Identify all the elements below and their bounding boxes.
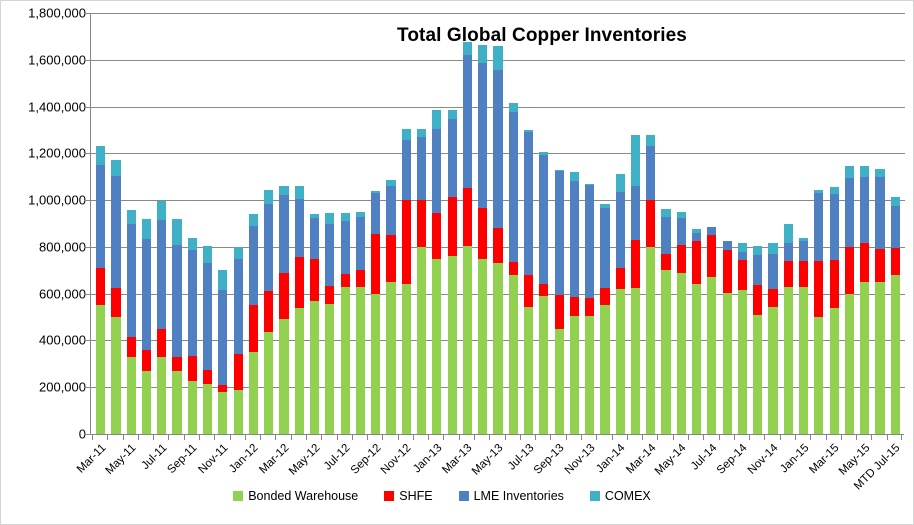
bar-segment: [677, 218, 686, 245]
bar-stack: [386, 180, 395, 434]
legend-item[interactable]: Bonded Warehouse: [233, 489, 358, 503]
bar-segment: [218, 392, 227, 434]
bar-stack: [555, 170, 564, 434]
x-axis-label-cell: May-12: [306, 440, 321, 492]
bar-segment: [814, 317, 823, 434]
bar-segment: [478, 259, 487, 434]
bar-stack: [264, 190, 273, 434]
y-axis-tick-label: 200,000: [4, 380, 86, 395]
bar-stack: [432, 110, 441, 434]
bar-column[interactable]: [872, 13, 887, 434]
bar-column[interactable]: [796, 13, 811, 434]
bar-segment: [585, 298, 594, 316]
bar-column[interactable]: [750, 13, 765, 434]
bar-stack: [570, 172, 579, 434]
bar-segment: [509, 262, 518, 275]
bar-segment: [661, 270, 670, 434]
bar-segment: [188, 238, 197, 251]
bar-segment: [814, 193, 823, 261]
bar-segment: [249, 214, 258, 226]
bar-segment: [463, 246, 472, 434]
bar-segment: [600, 208, 609, 288]
bar-segment: [661, 254, 670, 270]
bar-segment: [386, 186, 395, 235]
bar-stack: [234, 247, 243, 434]
bar-column[interactable]: [215, 13, 230, 434]
bar-segment: [234, 390, 243, 434]
bar-segment: [111, 317, 120, 434]
bar-column[interactable]: [231, 13, 246, 434]
bar-segment: [555, 295, 564, 329]
bar-segment: [448, 119, 457, 196]
bar-segment: [188, 356, 197, 382]
bar-stack: [127, 210, 136, 435]
bar-column[interactable]: [322, 13, 337, 434]
bar-segment: [493, 228, 502, 263]
bar-segment: [753, 246, 762, 255]
bar-segment: [264, 190, 273, 204]
bar-segment: [493, 46, 502, 71]
bar-column[interactable]: [490, 13, 505, 434]
bar-segment: [172, 357, 181, 371]
bar-stack: [646, 135, 655, 434]
bar-column[interactable]: [521, 13, 536, 434]
bar-stack: [96, 146, 105, 434]
bar-column[interactable]: [338, 13, 353, 434]
bar-column[interactable]: [597, 13, 612, 434]
bar-stack: [692, 229, 701, 434]
bar-stack: [249, 214, 258, 434]
bar-segment: [875, 177, 884, 250]
x-axis-label-cell: May-11: [123, 440, 138, 492]
bar-segment: [860, 243, 869, 282]
bar-segment: [295, 308, 304, 434]
bar-segment: [279, 195, 288, 272]
bar-segment: [585, 316, 594, 434]
bar-segment: [96, 165, 105, 268]
bar-segment: [753, 315, 762, 434]
bar-stack: [402, 129, 411, 434]
bar-column[interactable]: [857, 13, 872, 434]
bar-segment: [845, 247, 854, 294]
bar-column[interactable]: [139, 13, 154, 434]
bar-column[interactable]: [185, 13, 200, 434]
bar-segment: [325, 224, 334, 286]
x-axis-label-cell: MTD Jul-15: [887, 440, 902, 492]
bar-segment: [539, 284, 548, 296]
bar-segment: [463, 55, 472, 188]
bar-stack: [631, 135, 640, 434]
bar-stack: [707, 227, 716, 434]
bar-segment: [127, 210, 136, 224]
bar-segment: [600, 305, 609, 434]
bar-segment: [188, 381, 197, 434]
bar-segment: [753, 255, 762, 285]
bar-column[interactable]: [811, 13, 826, 434]
bar-stack: [814, 190, 823, 434]
bar-column[interactable]: [827, 13, 842, 434]
bar-column[interactable]: [628, 13, 643, 434]
bar-segment: [493, 70, 502, 228]
bar-segment: [341, 221, 350, 274]
bar-segment: [188, 250, 197, 355]
y-axis-tick-label: 600,000: [4, 286, 86, 301]
bar-segment: [234, 247, 243, 259]
bar-segment: [234, 354, 243, 389]
bar-column[interactable]: [674, 13, 689, 434]
bar-column[interactable]: [93, 13, 108, 434]
legend-swatch-icon: [590, 491, 600, 501]
bar-segment: [142, 239, 151, 350]
y-axis: 1,800,0001,600,0001,400,0001,200,0001,00…: [0, 13, 86, 434]
bar-column[interactable]: [536, 13, 551, 434]
bar-column[interactable]: [567, 13, 582, 434]
bar-segment: [768, 307, 777, 434]
bar-segment: [279, 273, 288, 320]
bar-segment: [264, 332, 273, 434]
bar-column[interactable]: [765, 13, 780, 434]
bar-segment: [860, 282, 869, 434]
bar-column[interactable]: [154, 13, 169, 434]
bar-segment: [555, 171, 564, 295]
bar-column[interactable]: [108, 13, 123, 434]
sheet-border-top: [0, 0, 914, 1]
bar-stack: [799, 238, 808, 434]
bar-segment: [127, 224, 136, 337]
bar-segment: [524, 132, 533, 275]
bar-segment: [539, 296, 548, 434]
bar-segment: [325, 213, 334, 224]
bar-segment: [264, 291, 273, 332]
bar-stack: [585, 184, 594, 434]
bar-segment: [448, 110, 457, 119]
bar-segment: [295, 199, 304, 257]
legend-item[interactable]: SHFE: [384, 489, 432, 503]
bar-column[interactable]: [704, 13, 719, 434]
bar-segment: [891, 206, 900, 248]
bar-column[interactable]: [399, 13, 414, 434]
y-axis-tick-label: 1,000,000: [4, 193, 86, 208]
bar-segment: [677, 245, 686, 273]
bar-segment: [509, 112, 518, 262]
bar-segment: [448, 256, 457, 434]
y-axis-tick-label: 0: [4, 427, 86, 442]
bar-column[interactable]: [124, 13, 139, 434]
bar-column[interactable]: [353, 13, 368, 434]
bar-segment: [417, 247, 426, 434]
y-axis-tick-label: 1,200,000: [4, 146, 86, 161]
bar-segment: [249, 226, 258, 306]
bar-stack: [111, 160, 120, 434]
bar-segment: [646, 135, 655, 147]
bar-segment: [723, 293, 732, 435]
bar-stack: [845, 166, 854, 434]
bar-segment: [768, 254, 777, 289]
bar-segment: [142, 350, 151, 371]
bar-segment: [524, 275, 533, 307]
bar-segment: [723, 250, 732, 292]
bar-segment: [127, 337, 136, 357]
legend-swatch-icon: [459, 491, 469, 501]
bar-segment: [310, 259, 319, 301]
bar-segment: [845, 166, 854, 178]
bar-segment: [341, 213, 350, 221]
bar-segment: [402, 140, 411, 200]
bar-segment: [799, 241, 808, 261]
bar-segment: [386, 235, 395, 282]
bar-segment: [402, 129, 411, 141]
bar-stack: [875, 169, 884, 434]
bar-segment: [830, 194, 839, 259]
bar-column[interactable]: [613, 13, 628, 434]
x-axis-tick-label: Mar-11: [74, 442, 108, 476]
bar-column[interactable]: [307, 13, 322, 434]
bar-stack: [203, 246, 212, 434]
bar-segment: [891, 197, 900, 206]
bar-segment: [707, 227, 716, 235]
bar-segment: [784, 243, 793, 261]
bar-stack: [172, 219, 181, 434]
bar-column[interactable]: [735, 13, 750, 434]
bar-stack: [891, 197, 900, 434]
bar-segment: [325, 286, 334, 305]
bar-segment: [738, 290, 747, 434]
bar-segment: [371, 234, 380, 294]
bar-segment: [264, 204, 273, 292]
bar-column[interactable]: [658, 13, 673, 434]
bar-segment: [157, 329, 166, 357]
bar-segment: [478, 208, 487, 258]
bar-column[interactable]: [276, 13, 291, 434]
bar-segment: [356, 217, 365, 271]
bar-segment: [616, 192, 625, 268]
bar-segment: [891, 248, 900, 275]
bar-segment: [310, 301, 319, 434]
bar-segment: [218, 290, 227, 385]
bar-segment: [509, 275, 518, 434]
bar-column[interactable]: [888, 13, 903, 434]
bar-segment: [157, 357, 166, 434]
bar-column[interactable]: [444, 13, 459, 434]
bar-stack: [677, 212, 686, 434]
bar-stack: [279, 186, 288, 434]
bar-segment: [830, 308, 839, 434]
bar-segment: [692, 241, 701, 284]
bar-segment: [753, 285, 762, 314]
bar-segment: [356, 287, 365, 434]
bar-segment: [142, 371, 151, 434]
bar-segment: [524, 307, 533, 434]
legend-label: SHFE: [399, 489, 432, 503]
bar-column[interactable]: [551, 13, 566, 434]
bar-stack: [478, 45, 487, 434]
bar-column[interactable]: [842, 13, 857, 434]
bar-segment: [203, 263, 212, 369]
bar-stack: [417, 129, 426, 434]
bar-segment: [830, 187, 839, 194]
y-axis-tick-label: 1,400,000: [4, 99, 86, 114]
bar-column[interactable]: [292, 13, 307, 434]
x-axis-labels: Mar-11May-11Jul-11Sep-11Nov-11Jan-12Mar-…: [90, 440, 904, 492]
bar-stack: [142, 219, 151, 434]
bar-segment: [295, 186, 304, 199]
bar-stack: [860, 166, 869, 434]
legend-label: Bonded Warehouse: [248, 489, 358, 503]
bar-segment: [845, 294, 854, 434]
bar-segment: [463, 188, 472, 245]
legend-label: LME Inventories: [474, 489, 564, 503]
bar-segment: [478, 45, 487, 64]
bar-segment: [157, 201, 166, 220]
bar-segment: [707, 277, 716, 434]
legend-item[interactable]: LME Inventories: [459, 489, 564, 503]
bar-segment: [875, 249, 884, 282]
bar-segment: [371, 193, 380, 234]
bar-stack: [509, 103, 518, 434]
bar-stack: [753, 246, 762, 434]
bar-column[interactable]: [781, 13, 796, 434]
bar-segment: [723, 241, 732, 250]
bar-stack: [341, 213, 350, 434]
bar-segment: [203, 370, 212, 384]
bar-stack: [661, 209, 670, 434]
bar-segment: [738, 243, 747, 251]
bar-segment: [707, 235, 716, 277]
bar-stack: [295, 186, 304, 434]
bar-segment: [646, 146, 655, 200]
bar-segment: [631, 288, 640, 434]
legend-swatch-icon: [384, 491, 394, 501]
bar-stack: [463, 42, 472, 434]
bar-segment: [661, 217, 670, 254]
bar-segment: [784, 224, 793, 244]
bar-segment: [768, 289, 777, 307]
bar-segment: [631, 135, 640, 186]
bar-column[interactable]: [506, 13, 521, 434]
bar-column[interactable]: [368, 13, 383, 434]
bar-segment: [860, 166, 869, 177]
bar-segment: [570, 172, 579, 181]
bar-segment: [509, 103, 518, 112]
bar-column[interactable]: [582, 13, 597, 434]
bar-stack: [768, 243, 777, 434]
bar-segment: [661, 209, 670, 216]
bar-column[interactable]: [475, 13, 490, 434]
bar-segment: [448, 197, 457, 257]
y-axis-tick-label: 800,000: [4, 239, 86, 254]
bar-segment: [295, 257, 304, 307]
bar-segment: [325, 304, 334, 434]
bar-segment: [111, 176, 120, 288]
bar-segment: [371, 294, 380, 434]
x-axis-label-cell: May-14: [673, 440, 688, 492]
bar-segment: [142, 219, 151, 239]
bar-segment: [432, 259, 441, 434]
chart-legend: Bonded WarehouseSHFELME InventoriesCOMEX: [0, 489, 914, 503]
bar-segment: [172, 219, 181, 245]
bar-segment: [279, 186, 288, 195]
bar-segment: [646, 200, 655, 247]
bar-segment: [814, 261, 823, 317]
bar-column[interactable]: [429, 13, 444, 434]
bar-segment: [830, 260, 839, 308]
bar-segment: [96, 268, 105, 305]
bar-segment: [784, 261, 793, 287]
bar-segment: [463, 42, 472, 55]
bar-segment: [631, 240, 640, 288]
bar-segment: [249, 305, 258, 352]
bar-segment: [677, 273, 686, 434]
bar-segment: [646, 247, 655, 434]
bar-segment: [616, 174, 625, 192]
bar-stack: [356, 212, 365, 434]
bar-segment: [279, 319, 288, 434]
bar-segment: [432, 110, 441, 129]
bar-column[interactable]: [261, 13, 276, 434]
bar-segment: [203, 384, 212, 434]
bar-segment: [493, 263, 502, 434]
bar-segment: [402, 284, 411, 434]
bar-column[interactable]: [200, 13, 215, 434]
bar-stack: [325, 213, 334, 434]
bar-segment: [600, 288, 609, 306]
bar-stack: [218, 270, 227, 434]
bar-column[interactable]: [383, 13, 398, 434]
bar-segment: [96, 305, 105, 434]
legend-item[interactable]: COMEX: [590, 489, 651, 503]
bar-column[interactable]: [246, 13, 261, 434]
bar-segment: [172, 371, 181, 434]
bar-column[interactable]: [414, 13, 429, 434]
bar-stack: [310, 214, 319, 434]
bar-segment: [111, 288, 120, 317]
bar-segment: [341, 274, 350, 287]
bar-segment: [875, 282, 884, 434]
bar-segment: [784, 287, 793, 434]
bar-segment: [692, 284, 701, 434]
bar-segment: [585, 185, 594, 298]
bar-segment: [172, 245, 181, 357]
bar-stack: [539, 152, 548, 434]
bar-segment: [310, 218, 319, 259]
bar-stack: [493, 46, 502, 434]
bar-segment: [570, 297, 579, 316]
y-axis-tick-label: 1,800,000: [4, 6, 86, 21]
bar-segment: [539, 155, 548, 285]
bar-stack: [738, 243, 747, 434]
bar-column[interactable]: [689, 13, 704, 434]
bar-column[interactable]: [720, 13, 735, 434]
bar-segment: [478, 63, 487, 208]
bar-stack: [830, 187, 839, 434]
bar-segment: [570, 316, 579, 434]
bar-stack: [448, 110, 457, 434]
chart-container: Total Global Copper Inventories 1,800,00…: [0, 0, 914, 525]
plot-area: [90, 13, 904, 434]
y-axis-tick-label: 400,000: [4, 333, 86, 348]
bar-segment: [432, 129, 441, 213]
x-axis-label-cell: May-13: [489, 440, 504, 492]
bar-segment: [570, 181, 579, 297]
bar-segment: [417, 137, 426, 200]
bar-stack: [188, 238, 197, 434]
legend-label: COMEX: [605, 489, 651, 503]
bar-stack: [723, 241, 732, 434]
bar-column[interactable]: [169, 13, 184, 434]
bar-segment: [234, 259, 243, 355]
bar-column[interactable]: [643, 13, 658, 434]
bar-column[interactable]: [460, 13, 475, 434]
